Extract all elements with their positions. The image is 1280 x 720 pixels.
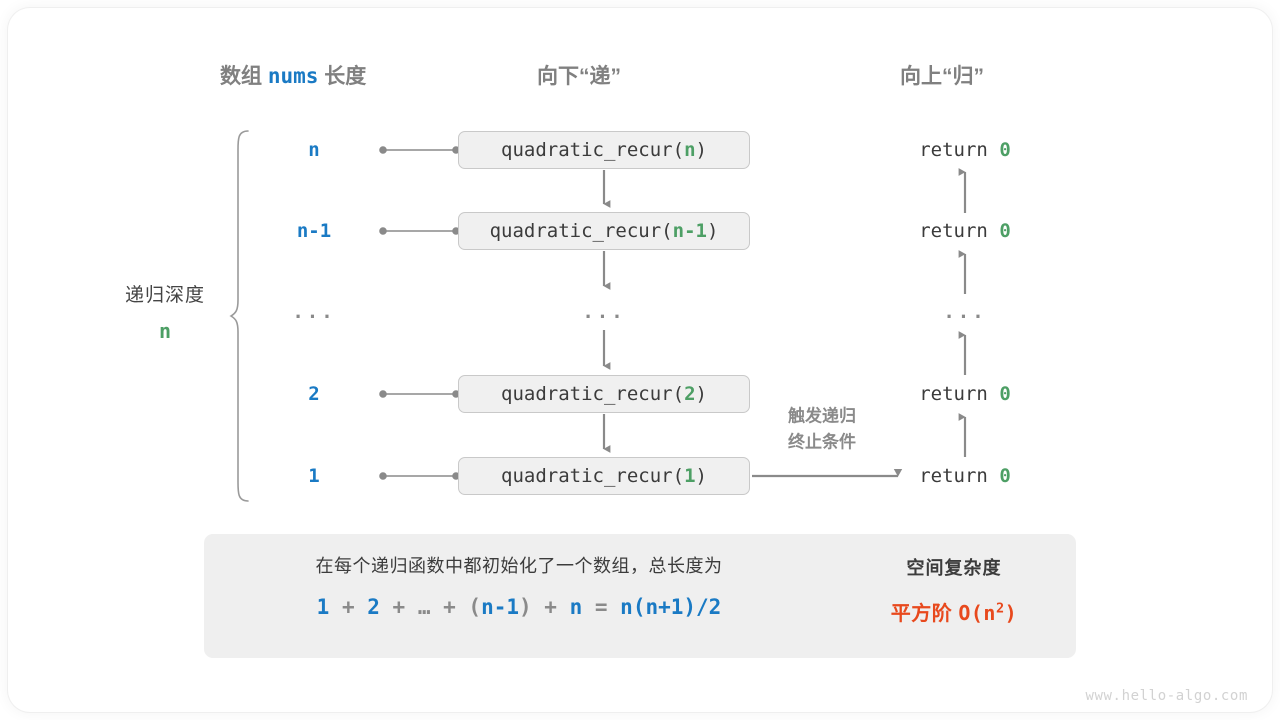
- header-ascend: 向上“归”: [900, 60, 984, 90]
- call-box-row-2-ellipsis: ...: [582, 301, 625, 323]
- summary-panel: 在每个递归函数中都初始化了一个数组，总长度为 1 + 2 + … + (n-1)…: [204, 534, 1076, 658]
- call-box-code-0: quadratic_recur(n): [501, 139, 707, 161]
- call-box-row-0[interactable]: quadratic_recur(n): [458, 131, 750, 169]
- formula-token: + … + (: [380, 595, 481, 619]
- header-array-suffix: 长度: [324, 65, 366, 88]
- depth-value-row-0: n: [308, 139, 319, 161]
- summary-formula: 1 + 2 + … + (n-1) + n = n(n+1)/2: [234, 595, 804, 619]
- complexity-tail: ): [1005, 601, 1018, 625]
- formula-token: 2: [367, 595, 380, 619]
- complexity-exponent: 2: [996, 600, 1005, 616]
- depth-value-row-4: 1: [308, 465, 319, 487]
- formula-token: n-1: [481, 595, 519, 619]
- call-box-row-1[interactable]: quadratic_recur(n-1): [458, 212, 750, 250]
- formula-token: ) +: [519, 595, 570, 619]
- termination-note-line2: 终止条件: [788, 429, 856, 455]
- recursion-depth-label: 递归深度 n: [95, 280, 235, 343]
- formula-token: 1: [317, 595, 330, 619]
- formula-token: =: [582, 595, 620, 619]
- complexity-value: 平方阶 O(n2): [844, 597, 1064, 626]
- return-row-4: return 0: [919, 465, 1011, 487]
- header-array-length: 数组 nums 长度: [220, 60, 366, 90]
- call-box-code-3: quadratic_recur(2): [501, 383, 707, 405]
- recursion-depth-value: n: [95, 319, 235, 343]
- termination-note: 触发递归 终止条件: [788, 404, 856, 455]
- watermark: www.hello-algo.com: [1085, 688, 1248, 704]
- call-box-row-3[interactable]: quadratic_recur(2): [458, 375, 750, 413]
- call-box-code-4: quadratic_recur(1): [501, 465, 707, 487]
- formula-token: +: [329, 595, 367, 619]
- summary-result: 空间复杂度 平方阶 O(n2): [844, 554, 1064, 626]
- return-row-1: return 0: [919, 220, 1011, 242]
- complexity-title: 空间复杂度: [844, 554, 1064, 580]
- header-array-prefix: 数组: [220, 65, 262, 88]
- return-row-0: return 0: [919, 139, 1011, 161]
- depth-value-row-2: ...: [292, 301, 335, 323]
- complexity-bigo: O(n: [958, 601, 996, 625]
- summary-text-block: 在每个递归函数中都初始化了一个数组，总长度为 1 + 2 + … + (n-1)…: [234, 554, 804, 619]
- recursion-depth-title: 递归深度: [95, 280, 235, 307]
- formula-token: n: [570, 595, 583, 619]
- header-descend: 向下“递”: [537, 60, 621, 90]
- formula-token: n(n+1)/2: [620, 595, 721, 619]
- summary-description: 在每个递归函数中都初始化了一个数组，总长度为: [234, 554, 804, 579]
- header-array-name: nums: [268, 64, 319, 88]
- call-box-code-1: quadratic_recur(n-1): [490, 220, 719, 242]
- return-row-2-ellipsis: ...: [943, 301, 986, 323]
- depth-value-row-3: 2: [308, 383, 319, 405]
- termination-note-line1: 触发递归: [788, 404, 856, 430]
- return-row-3: return 0: [919, 383, 1011, 405]
- complexity-prefix: 平方阶: [891, 603, 959, 625]
- depth-value-row-1: n-1: [297, 220, 331, 242]
- call-box-row-4[interactable]: quadratic_recur(1): [458, 457, 750, 495]
- diagram-canvas: 数组 nums 长度 向下“递” 向上“归” 递归深度 n n n-1 ... …: [0, 0, 1280, 720]
